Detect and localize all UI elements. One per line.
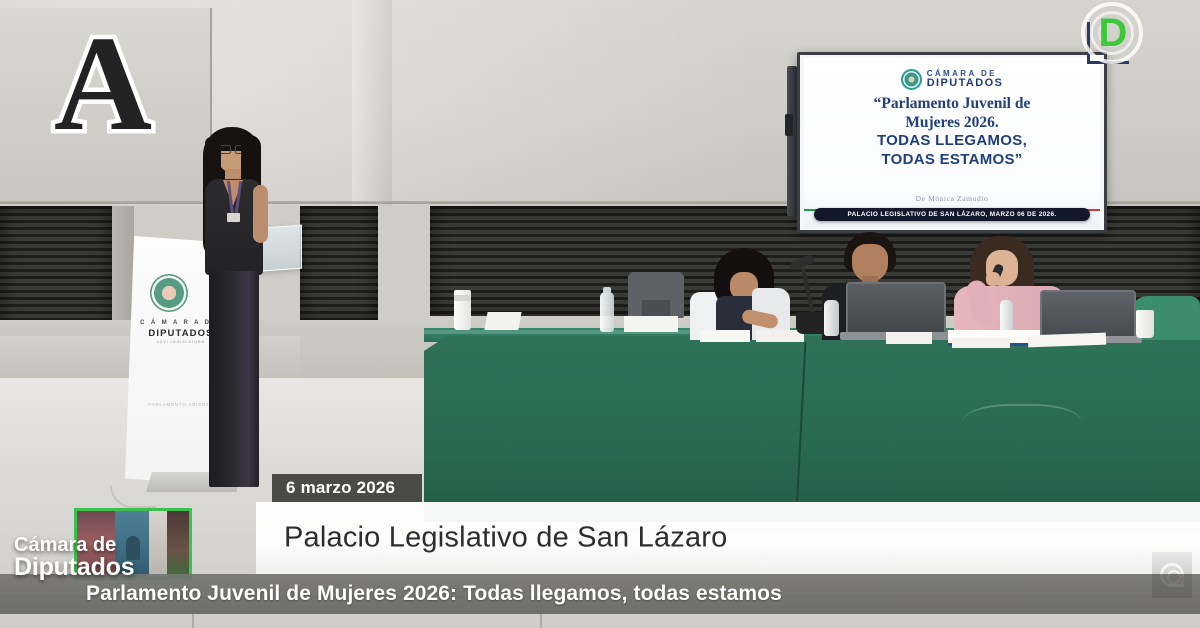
location-bar: Palacio Legislativo de San Lázaro: [256, 502, 1200, 574]
slide-title-line-4: TODAS ESTAMOS”: [812, 151, 1092, 170]
water-bottle-1: [600, 292, 614, 332]
location-title: Palacio Legislativo de San Lázaro: [284, 522, 728, 555]
slide-title: “Parlamento Juvenil de Mujeres 2026. TOD…: [812, 94, 1092, 170]
slide-subtitle: De Mónica Zamudio: [804, 194, 1100, 203]
paper-stack-left: [484, 312, 521, 330]
slide-org-logo: CÁMARA DE DIPUTADOS: [804, 66, 1100, 92]
wall-column: [112, 206, 134, 326]
watermark-letter: D: [1093, 10, 1133, 56]
slide-title-line-3: TODAS LLEGAMOS,: [812, 132, 1092, 151]
ticker-bar: Parlamento Juvenil de Mujeres 2026: Toda…: [0, 574, 1200, 614]
wall-pillar: [352, 0, 392, 206]
channel-watermark-d: D: [1081, 2, 1143, 64]
slide-footer: PALACIO LEGISLATIVO DE SAN LÁZARO, MARZO…: [814, 208, 1090, 221]
paper-stack-4: [756, 330, 804, 342]
table-cable-2: [962, 404, 1082, 450]
speaker-at-podium: [185, 123, 281, 486]
podium-seal-icon: [150, 274, 188, 312]
panel-table-cloth: [424, 336, 1200, 522]
water-bottle-2: [824, 300, 839, 336]
speaker-arm: [253, 185, 268, 243]
paper-stack-5: [886, 332, 932, 344]
projection-screen: CÁMARA DE DIPUTADOS “Parlamento Juvenil …: [797, 52, 1107, 233]
louver-vent-mid: [300, 206, 378, 324]
broadcast-frame: CÁMARA DE DIPUTADOS “Parlamento Juvenil …: [0, 0, 1200, 628]
laptop-center: [846, 282, 946, 336]
slide-title-line-2: Mujeres 2026.: [812, 113, 1092, 132]
slide-surface: CÁMARA DE DIPUTADOS “Parlamento Juvenil …: [804, 58, 1100, 227]
network-logo-a: A: [48, 32, 158, 144]
slide-org-line2: DIPUTADOS: [927, 78, 1004, 88]
paper-stack-3: [700, 330, 750, 342]
slide-title-line-1: “Parlamento Juvenil de: [812, 94, 1092, 113]
station-logo-image: [77, 511, 189, 577]
station-logo-box: [74, 508, 192, 580]
screen-mount-arm: [787, 66, 797, 216]
screen-frame: CÁMARA DE DIPUTADOS “Parlamento Juvenil …: [797, 52, 1107, 233]
coffee-cup-right: [1136, 310, 1154, 338]
national-seal-icon: [901, 69, 922, 90]
speaker-badge: [227, 213, 240, 222]
logo-panel-3: [149, 511, 167, 577]
logo-figure: [126, 536, 140, 560]
coffee-cup-left: [454, 290, 471, 330]
speaker-skirt: [209, 271, 259, 487]
logo-panel-4: [167, 511, 189, 577]
louver-vent-left: [0, 206, 112, 338]
paper-stack-2: [624, 316, 678, 332]
date-text: 6 marzo 2026: [286, 478, 395, 498]
slide-org-text: CÁMARA DE DIPUTADOS: [927, 70, 1004, 87]
ticker-title: Parlamento Juvenil de Mujeres 2026: Toda…: [86, 582, 782, 606]
date-badge: 6 marzo 2026: [272, 474, 422, 502]
logo-panel-1: [77, 511, 115, 577]
paper-stack-6: [952, 338, 1010, 348]
panelist-left: [690, 248, 794, 340]
panelist-right-hand: [986, 272, 1000, 286]
